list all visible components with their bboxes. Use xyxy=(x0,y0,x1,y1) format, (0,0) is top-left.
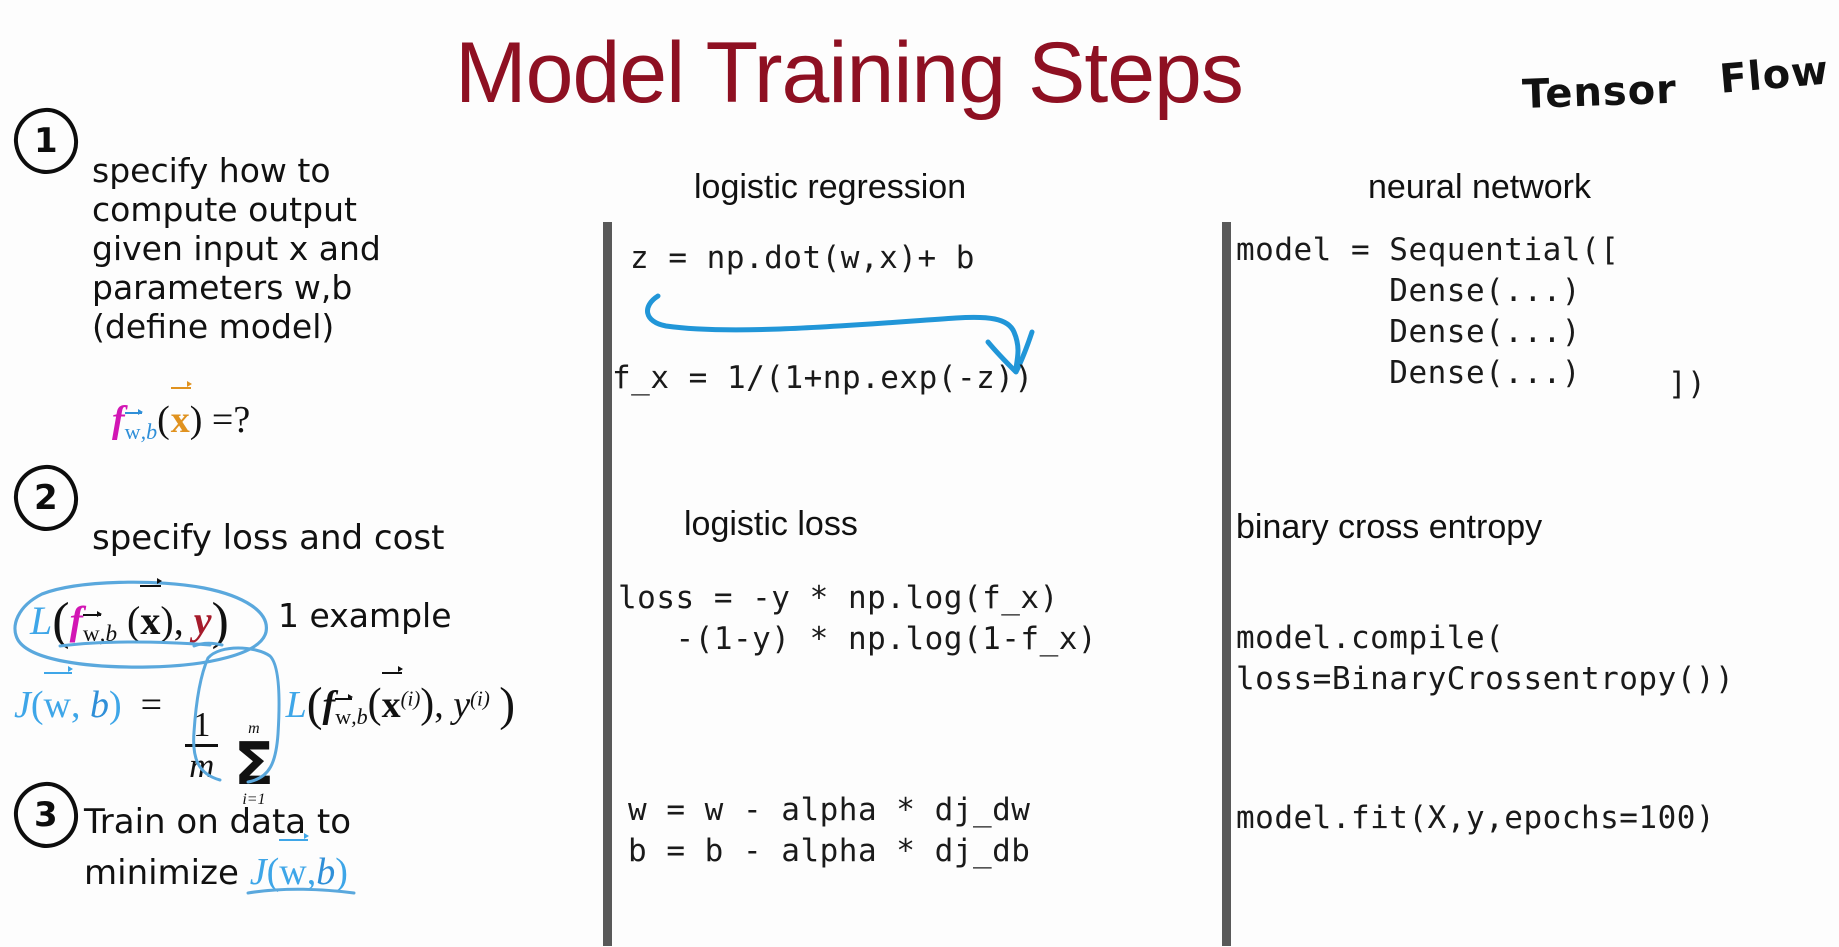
formula-summation: m Σ i=1 xyxy=(234,721,274,807)
column-heading-binary-cross-entropy: binary cross entropy xyxy=(1236,508,1542,547)
step-3-minimize-label: minimize xyxy=(84,853,250,893)
code-neural-model: model = Sequential([ Dense(...) Dense(..… xyxy=(1236,230,1619,394)
column-heading-logistic-regression: logistic regression xyxy=(694,168,966,207)
formula-J-symbol: J xyxy=(14,684,31,726)
loss-caption-one-example: 1 example xyxy=(278,596,452,635)
code-logistic-model-z: z = np.dot(w,x)+ b xyxy=(630,238,975,279)
column-heading-logistic-loss: logistic loss xyxy=(684,505,858,544)
formula-model-f: fw,b(x) =? xyxy=(112,398,250,445)
formula-f-equals: =? xyxy=(212,399,250,441)
handwritten-tensorflow-note: Tensor Flow xyxy=(1521,51,1831,118)
slide-canvas: Model Training Steps Tensor Flow 1 speci… xyxy=(0,0,1839,947)
column-divider-left xyxy=(603,222,612,946)
formula-loss-y-symbol: y xyxy=(194,598,212,643)
step-2-description: specify loss and cost xyxy=(92,518,444,558)
formula-minimize-b: b xyxy=(316,851,335,893)
step-1-number: 1 xyxy=(34,121,58,161)
code-neural-model-close: ]) xyxy=(1668,364,1706,405)
formula-cost-fraction: 1 m xyxy=(185,708,218,784)
step-2-number-circle: 2 xyxy=(12,463,80,533)
code-logistic-loss: loss = -y * np.log(f_x) -(1-y) * np.log(… xyxy=(618,578,1097,660)
step-1-number-circle: 1 xyxy=(12,106,80,176)
page-title: Model Training Steps xyxy=(455,24,1243,123)
column-divider-right xyxy=(1222,222,1231,946)
formula-cost-f-symbol: f xyxy=(323,684,336,726)
formula-minimize-J-symbol: J xyxy=(250,851,267,893)
step-3-line2: minimize J(w,b) xyxy=(84,850,348,894)
formula-J-b: b xyxy=(90,684,109,726)
formula-loss-f-symbol: f xyxy=(70,598,83,643)
handwritten-word-tensor: Tensor xyxy=(1522,67,1678,118)
code-neural-loss: model.compile( loss=BinaryCrossentropy()… xyxy=(1236,618,1734,700)
formula-cost-J: J(w, b) = 1 m m Σ i=1 L(fw,b(x(i)), y(i)… xyxy=(14,678,515,807)
formula-cost-denominator: m xyxy=(185,744,218,784)
step-3-description: Train on data to xyxy=(84,802,351,842)
formula-loss-L: L(fw,b (x), y) xyxy=(30,592,229,651)
formula-cost-L-symbol: L xyxy=(286,684,307,726)
formula-f-symbol: f xyxy=(112,399,125,441)
code-neural-train: model.fit(X,y,epochs=100) xyxy=(1236,798,1715,839)
step-2-number: 2 xyxy=(34,478,58,518)
code-logistic-model-fx: f_x = 1/(1+np.exp(-z)) xyxy=(612,358,1034,399)
formula-cost-numerator: 1 xyxy=(189,708,214,744)
handwritten-word-flow: Flow xyxy=(1718,47,1831,102)
formula-L-symbol: L xyxy=(30,598,52,643)
column-heading-neural-network: neural network xyxy=(1368,168,1591,207)
step-1-description: specify how to compute output given inpu… xyxy=(92,152,472,347)
step-3-number: 3 xyxy=(34,795,58,835)
formula-minimize-J: J(w,b) xyxy=(250,851,348,893)
code-logistic-train: w = w - alpha * dj_dw b = b - alpha * dj… xyxy=(628,790,1030,872)
